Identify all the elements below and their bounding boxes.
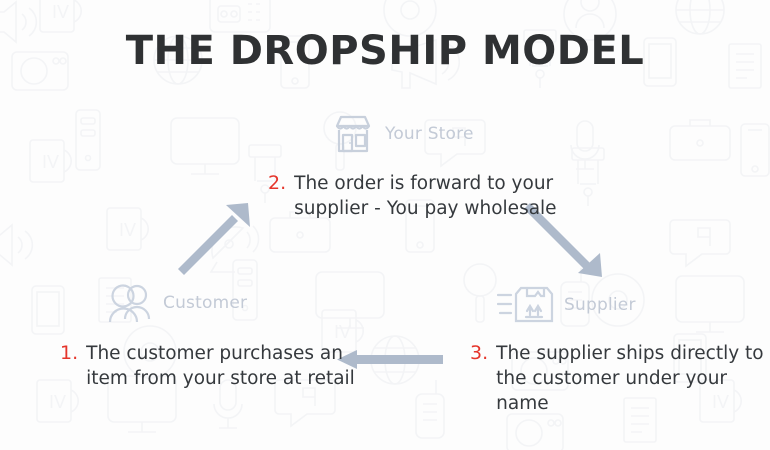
- step-number-2: 2.: [268, 171, 286, 221]
- node-supplier: Supplier: [497, 285, 636, 325]
- step-text-3: The supplier ships directly to the custo…: [496, 341, 770, 416]
- step-item-2: 2. The order is forward to your supplier…: [268, 171, 557, 221]
- people-icon: [108, 283, 154, 323]
- storefront-icon: [330, 113, 376, 155]
- step-number-1: 1.: [60, 341, 78, 391]
- infographic-canvas: IV: [0, 0, 770, 450]
- shipping-box-icon: [497, 285, 555, 325]
- node-your-store: Your Store: [330, 113, 474, 155]
- node-label-supplier: Supplier: [564, 295, 636, 315]
- step-text-2: The order is forward to your supplier - …: [294, 171, 556, 221]
- arrow-customer-to-store: [170, 195, 260, 285]
- step-item-1: 1. The customer purchases an item from y…: [60, 341, 355, 391]
- node-customer: Customer: [108, 283, 247, 323]
- step-text-1: The customer purchases an item from your…: [86, 341, 355, 391]
- node-label-customer: Customer: [163, 293, 247, 313]
- step-item-3: 3. The supplier ships directly to the cu…: [470, 341, 770, 416]
- page-title: THE DROPSHIP MODEL: [0, 28, 770, 74]
- step-number-3: 3.: [470, 341, 488, 416]
- node-label-your-store: Your Store: [385, 124, 474, 144]
